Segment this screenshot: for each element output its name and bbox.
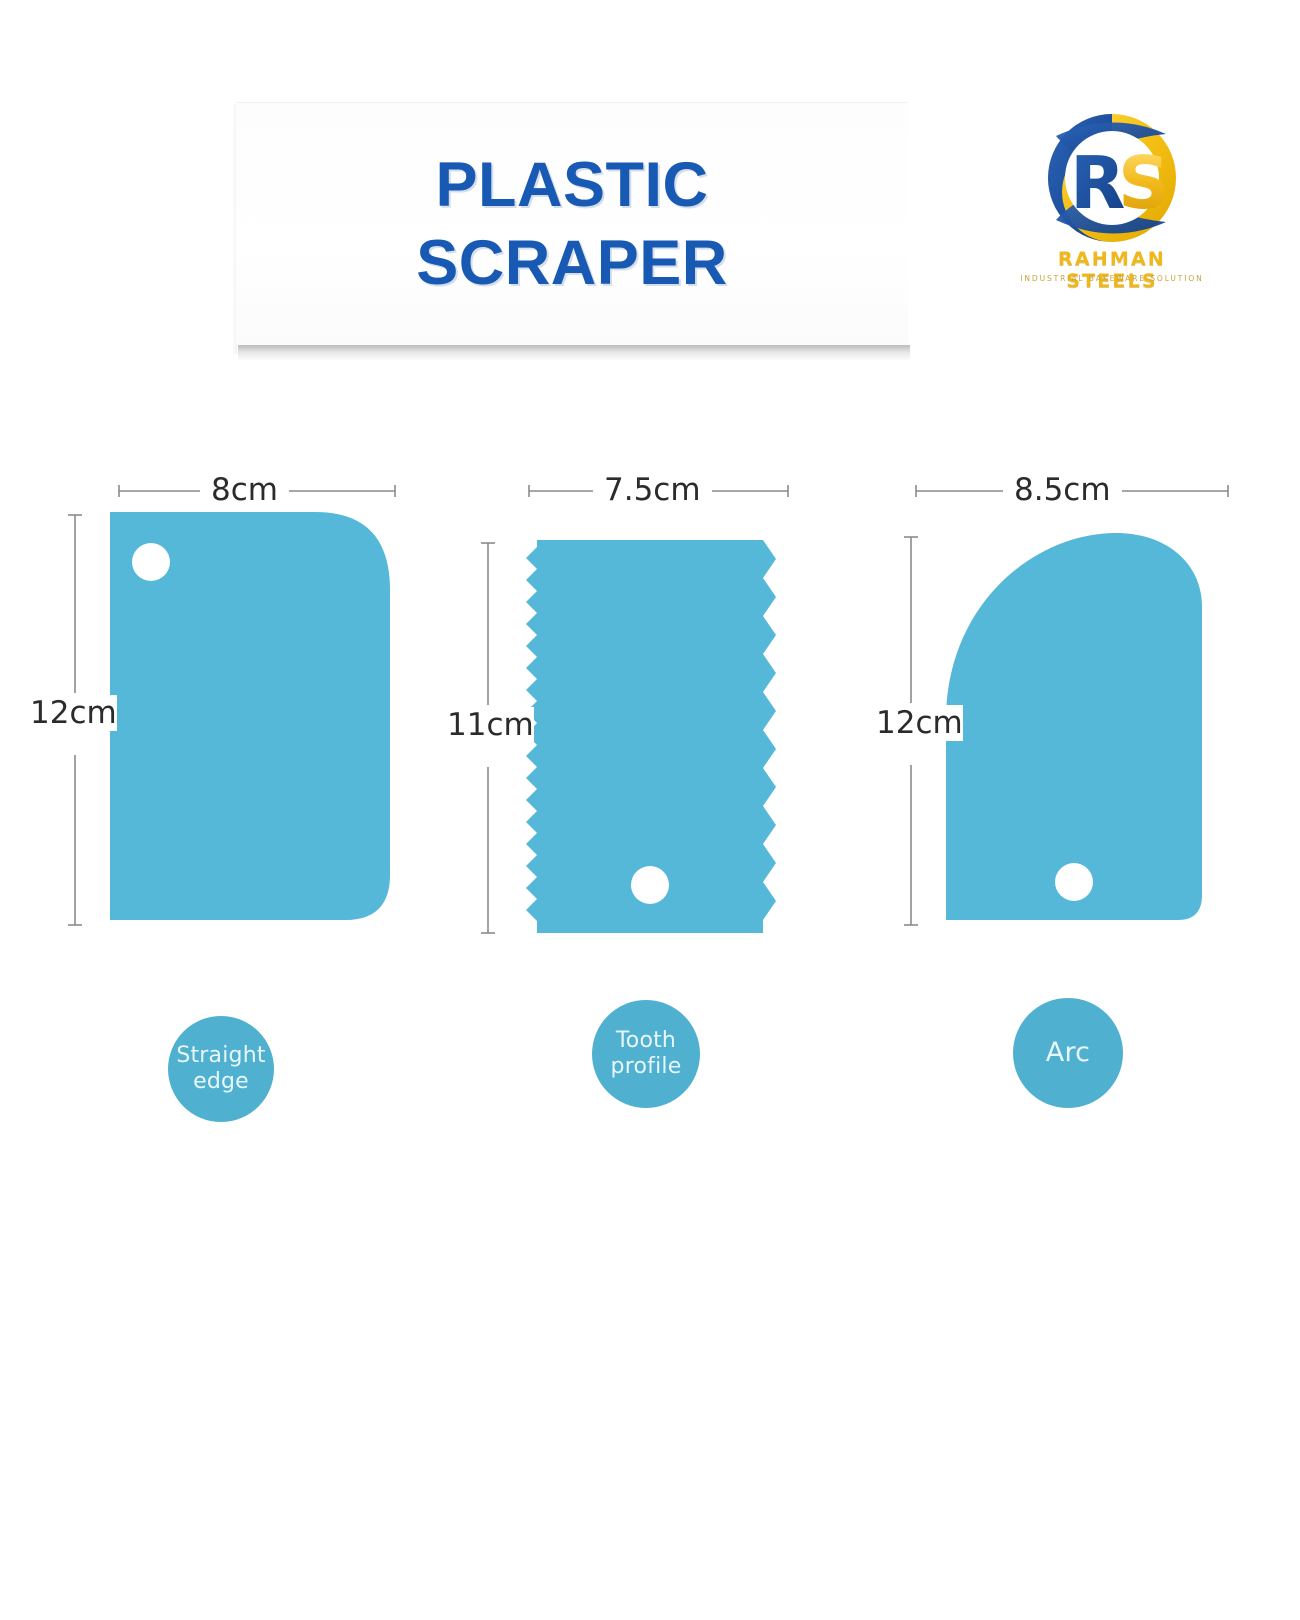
- width-label: 8.5cm: [1003, 472, 1122, 508]
- tooth-profile-scraper-svg: [443, 455, 833, 945]
- scraper-body: [946, 533, 1202, 920]
- logo-company-name: RAHMAN STEELS: [1012, 248, 1212, 292]
- title-card-drop-shadow: [238, 345, 910, 361]
- arc-illustration: [866, 455, 1266, 945]
- arc-scraper-svg: [866, 455, 1266, 945]
- rs-monogram-icon: R S: [1026, 108, 1198, 258]
- caption-badge-arc: Arc: [1013, 998, 1123, 1108]
- page-title-line-2: SCRAPER: [416, 224, 728, 302]
- width-label: 8cm: [200, 472, 289, 508]
- company-logo: R S RAHMAN STEELS INDUSTRIAL BAKEWARE SO…: [1012, 108, 1212, 304]
- logo-tagline: INDUSTRIAL BAKEWARE SOLUTION: [1012, 274, 1212, 283]
- caption-line-2: edge: [176, 1069, 265, 1095]
- finger-hole: [1055, 863, 1093, 901]
- caption-text: Arc: [1046, 1040, 1090, 1066]
- caption-text: Straight edge: [176, 1043, 265, 1095]
- height-label: 12cm: [876, 705, 963, 741]
- height-label: 12cm: [30, 695, 117, 731]
- caption-badge-straight-edge: Straight edge: [168, 1016, 274, 1122]
- height-label: 11cm: [447, 707, 534, 743]
- page-title-line-1: PLASTIC: [435, 146, 708, 224]
- caption-badge-tooth-profile: Tooth profile: [592, 1000, 700, 1108]
- caption-line-1: Straight: [176, 1043, 265, 1069]
- caption-line-2: profile: [611, 1054, 682, 1080]
- caption-line-1: Tooth: [611, 1028, 682, 1054]
- svg-text:S: S: [1118, 141, 1170, 225]
- title-card-inner: PLASTIC SCRAPER: [236, 102, 908, 345]
- caption-text: Tooth profile: [611, 1028, 682, 1080]
- tooth-profile-illustration: [443, 455, 833, 945]
- finger-hole: [132, 543, 170, 581]
- width-label: 7.5cm: [593, 472, 712, 508]
- caption-line-1: Arc: [1046, 1040, 1090, 1066]
- title-card: PLASTIC SCRAPER: [236, 102, 908, 345]
- finger-hole: [631, 866, 669, 904]
